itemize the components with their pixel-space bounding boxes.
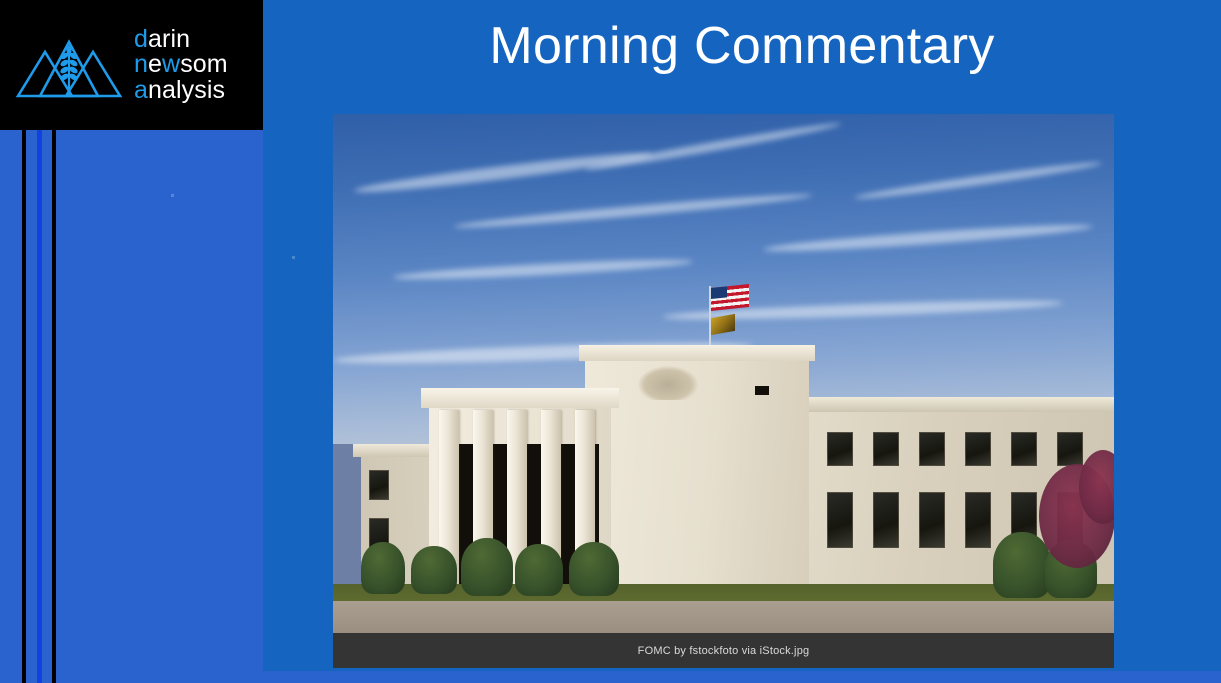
- portico-cornice: [421, 388, 619, 408]
- brand-accent-w: w: [162, 50, 180, 78]
- window: [827, 432, 853, 466]
- page-title: Morning Commentary: [263, 16, 1221, 76]
- brand-rest-nalysis: nalysis: [148, 76, 225, 104]
- window: [369, 470, 389, 500]
- fomc-building-photo: [333, 114, 1114, 633]
- decorative-speck: [292, 256, 295, 259]
- shrub: [411, 546, 457, 594]
- window: [827, 492, 853, 548]
- window: [873, 432, 899, 466]
- sidebar-decorative-band: [0, 130, 64, 683]
- building-right-cornice: [803, 397, 1114, 412]
- us-flag-icon: [711, 284, 749, 311]
- brand-wordmark-line-1: darin: [134, 27, 228, 53]
- slide-canvas: Morning Commentary: [0, 0, 1221, 683]
- window: [755, 386, 769, 395]
- window: [919, 432, 945, 466]
- image-caption-bar: FOMC by fstockfoto via iStock.jpg: [333, 633, 1114, 668]
- sidebar-rule-accent: [37, 130, 42, 683]
- slide-image-frame[interactable]: FOMC by fstockfoto via iStock.jpg: [333, 114, 1114, 668]
- sidebar-rule-black-right: [52, 130, 56, 683]
- shrub: [569, 542, 619, 596]
- window: [1011, 432, 1037, 466]
- decorative-speck: [171, 194, 174, 197]
- shrub: [993, 532, 1051, 598]
- brand-rest-arin: arin: [148, 25, 190, 53]
- shrub: [515, 544, 563, 596]
- brand-accent-a: a: [134, 76, 148, 104]
- brand-accent-n: n: [134, 50, 148, 78]
- window: [1057, 432, 1083, 466]
- shrub: [361, 542, 405, 594]
- window: [873, 492, 899, 548]
- brand-wordmark-line-3: analysis: [134, 78, 228, 104]
- window: [919, 492, 945, 548]
- building-center-cornice: [579, 345, 815, 361]
- brand-wordmark-line-2: newsom: [134, 52, 228, 78]
- image-caption-text: FOMC by fstockfoto via iStock.jpg: [638, 645, 810, 657]
- sidebar-rule-black-left: [22, 130, 26, 683]
- foreground-pavement: [333, 601, 1114, 633]
- eagle-relief-icon: [638, 366, 698, 400]
- brand-wordmark: darin newsom analysis: [134, 27, 228, 104]
- window: [965, 432, 991, 466]
- brand-rest-som: som: [180, 50, 228, 78]
- window: [965, 492, 991, 548]
- mountains-wheat-logo-icon: [14, 26, 124, 104]
- brand-accent-d: d: [134, 25, 148, 53]
- brand-logo-box[interactable]: darin newsom analysis: [0, 0, 263, 130]
- brand-mid-e: e: [148, 50, 162, 78]
- shrub: [461, 538, 513, 596]
